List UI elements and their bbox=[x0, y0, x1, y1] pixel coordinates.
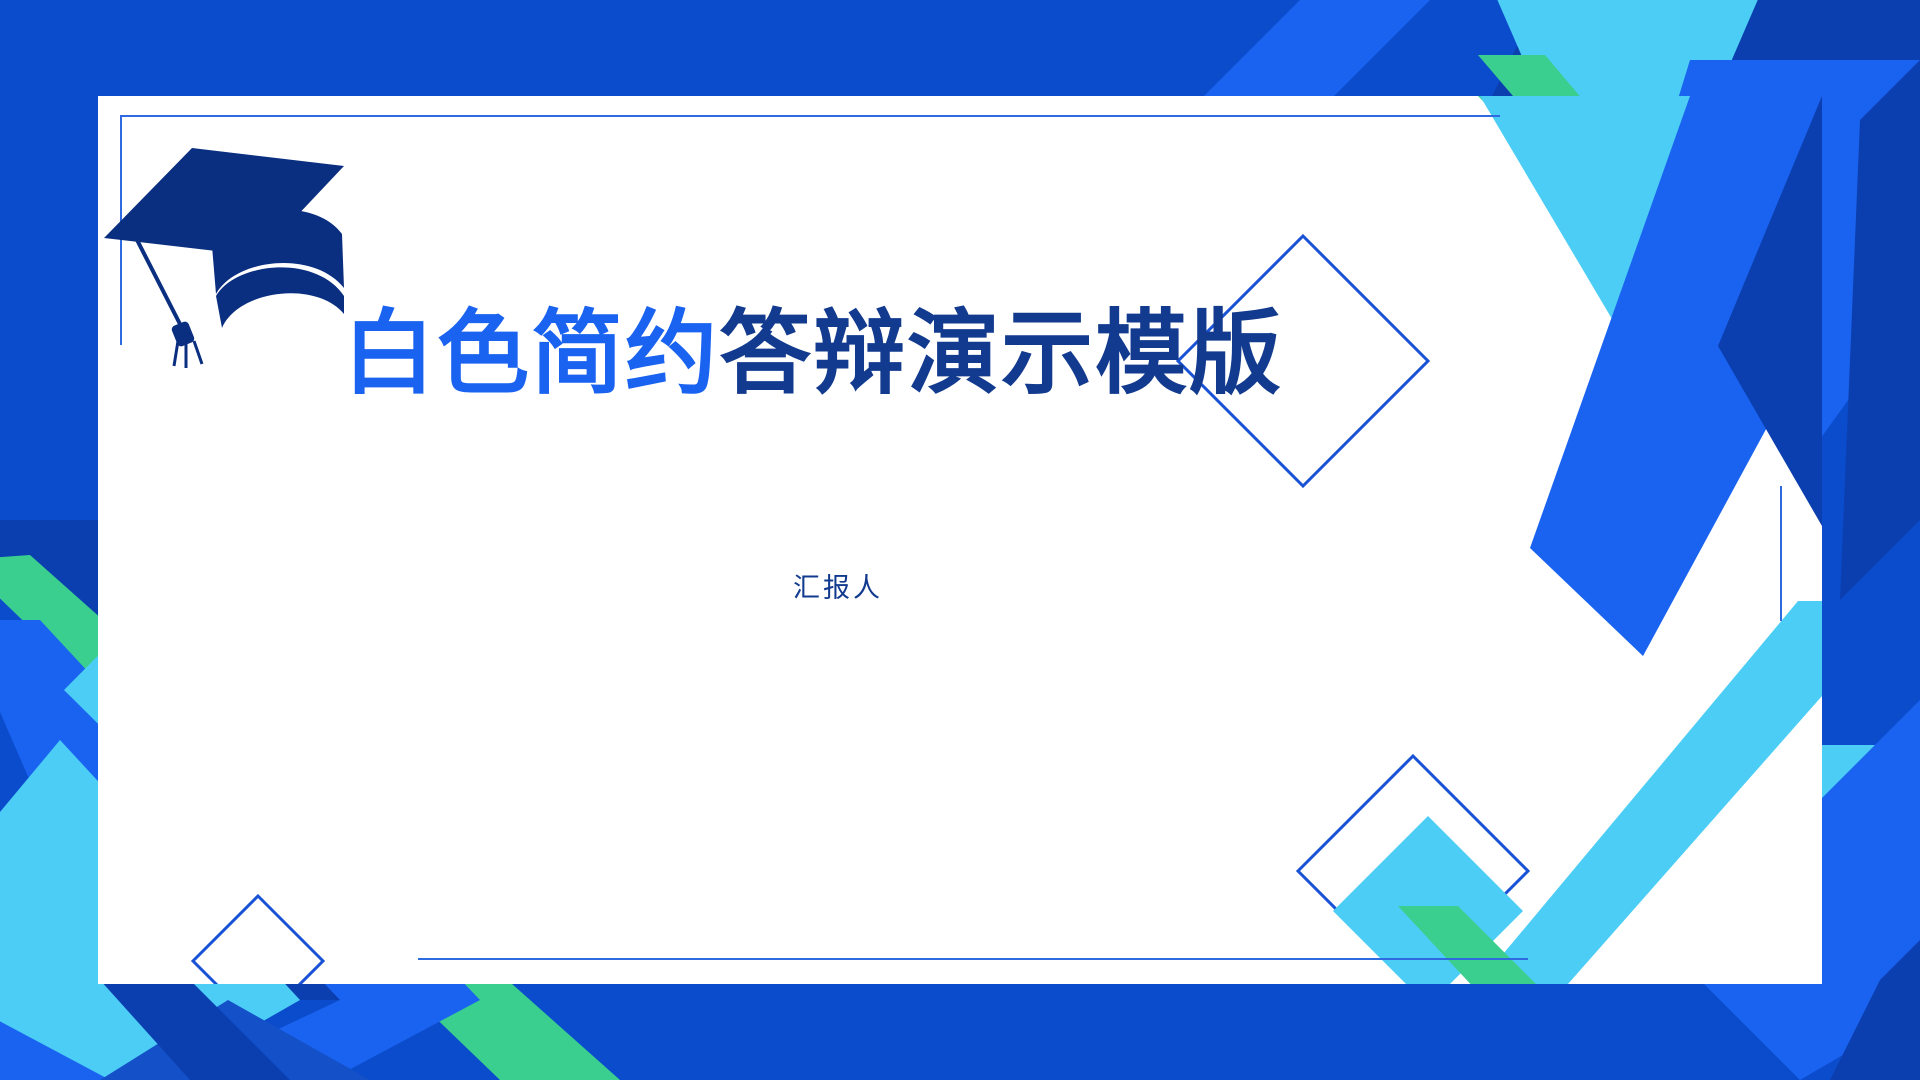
title-highlight-text: 白色简约 bbox=[343, 303, 719, 405]
rule-line-right bbox=[1780, 486, 1782, 621]
outlined-diamond-bottom-left-icon bbox=[193, 896, 323, 984]
rule-line-bottom bbox=[418, 958, 1528, 960]
page-title: 白色简约答辩演示模版 bbox=[343, 306, 1283, 403]
content-panel: 白色简约答辩演示模版 汇报人 bbox=[98, 96, 1822, 984]
graduation-cap-icon bbox=[104, 138, 344, 368]
presentation-slide: 白色简约答辩演示模版 汇报人 bbox=[0, 0, 1920, 1080]
rule-line-top bbox=[120, 115, 1500, 117]
cyan-stripe-panel-icon bbox=[1478, 601, 1822, 984]
title-rest-text: 答辩演示模版 bbox=[719, 303, 1283, 405]
presenter-label: 汇报人 bbox=[98, 566, 1578, 605]
panel-decorations bbox=[98, 96, 1822, 984]
